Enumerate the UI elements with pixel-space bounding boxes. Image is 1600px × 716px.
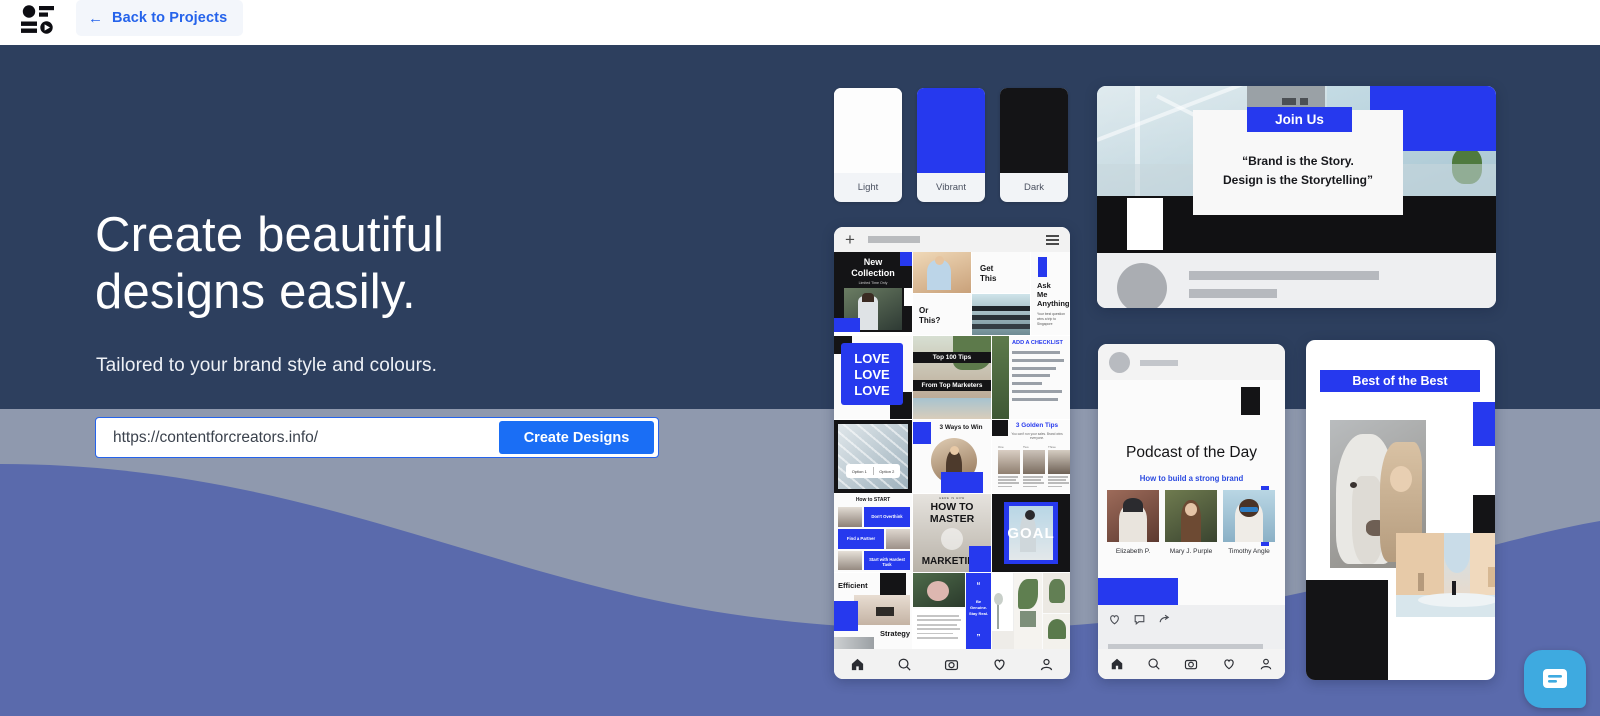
moodboard-grid: New Collection Limited Time Only Get Thi… (834, 252, 1070, 649)
guest-name: Timothy Angle (1223, 548, 1275, 555)
search-icon[interactable] (1147, 657, 1161, 671)
tile-quote: “ Be Genuine. Stay Real. ” (913, 573, 991, 649)
tile-title: HOW TO MASTER (913, 501, 991, 525)
tile-plants (992, 573, 1070, 649)
guest-photo (1223, 490, 1275, 542)
tile-title: Top 100 Tips (913, 354, 991, 361)
moodboard-header: + (834, 227, 1070, 252)
comment-icon[interactable] (1133, 613, 1146, 626)
heart-icon[interactable] (1108, 613, 1121, 626)
podcast-bottom-nav (1098, 649, 1285, 679)
brand-quote-design-card[interactable]: WWW.OFFEO.COM Join Us “Brand is the Stor… (1097, 86, 1496, 308)
theme-swatch-color (834, 88, 902, 173)
best-of-the-best-design-card[interactable]: Best of the Best (1306, 340, 1495, 680)
hamburger-icon[interactable] (1046, 235, 1059, 248)
podcast-guest-list: Elizabeth P. Mary J. Purple Timothy (1107, 490, 1277, 555)
brand-quote-text: “Brand is the Story. Design is the Story… (1193, 152, 1403, 190)
tile-title: How to START (834, 497, 912, 503)
page-subtitle: Tailored to your brand style and colours… (96, 355, 437, 377)
tile-goal: GOAL (992, 494, 1070, 572)
tile-step-label: Start with Hardest Task (864, 557, 910, 567)
tile-title: GOAL (992, 525, 1070, 542)
tile-ask-me-anything: Ask Me Anything Your best question wins … (1031, 252, 1070, 335)
action-icon-row (1108, 613, 1171, 626)
tile-efficient-strategy: Efficient Strategy (834, 573, 912, 649)
tile-3-golden-tips: 3 Golden Tips You can't run your sales. … (992, 420, 1070, 493)
guest-item: Mary J. Purple (1165, 490, 1217, 555)
tile-photo-joy (913, 252, 971, 293)
guest-photo (1107, 490, 1159, 542)
avatar (1117, 263, 1167, 308)
chat-bubble-icon (1542, 668, 1568, 690)
website-url-input[interactable] (96, 429, 499, 447)
placeholder-name-bar (1140, 360, 1178, 366)
back-to-projects-label: Back to Projects (112, 10, 227, 26)
page-root: ← Back to Projects Create beautiful desi… (0, 0, 1600, 716)
tile-how-to-start: How to START Don't Overthink Find a Part… (834, 494, 912, 572)
theme-swatch-color (1000, 88, 1068, 173)
home-icon[interactable] (1110, 657, 1124, 671)
tile-quote-text: Be Genuine. Stay Real. (968, 599, 989, 617)
url-form: Create Designs (95, 417, 659, 458)
tile-option-1: Option 1 (846, 464, 873, 478)
tile-add-checklist: ADD A CHECKLIST (992, 336, 1070, 419)
quote-panel: Join Us “Brand is the Story. Design is t… (1193, 110, 1403, 215)
podcast-title: Podcast of the Day (1098, 444, 1285, 462)
tile-how-to-master-marketing: HERE IS HOW HOW TO MASTER MARKETING (913, 494, 991, 572)
theme-card-dark[interactable]: Dark (1000, 88, 1068, 202)
tile-step-label: Find a Partner (838, 536, 884, 541)
architecture-photo (1396, 533, 1495, 617)
search-icon[interactable] (897, 657, 912, 672)
tile-title: 3 Ways to Win (933, 424, 989, 431)
guest-item: Timothy Angle (1223, 490, 1275, 555)
tile-option-2: Option 2 (874, 464, 901, 478)
theme-card-vibrant[interactable]: Vibrant (917, 88, 985, 202)
tile-get-this: Get This (972, 252, 1030, 293)
moodboard-design-card[interactable]: + New Collection Limited Time Only G (834, 227, 1070, 679)
avatar (1109, 352, 1130, 373)
plus-icon[interactable]: + (845, 231, 855, 248)
guest-name: Mary J. Purple (1165, 548, 1217, 555)
placeholder-line (1189, 271, 1379, 280)
top-bar: ← Back to Projects (0, 0, 1600, 45)
tile-title: Get This (980, 264, 1026, 283)
tile-title: LOVE LOVE LOVE (841, 351, 903, 399)
tile-title: Ask Me Anything (1037, 281, 1070, 308)
theme-label: Dark (1000, 173, 1068, 202)
theme-label: Vibrant (917, 173, 985, 202)
white-accent-bar (1127, 198, 1163, 250)
tile-or-this: Or This? (913, 294, 971, 335)
tile-3-ways-to-win: 3 Ways to Win (913, 420, 991, 493)
guest-item: Elizabeth P. (1107, 490, 1159, 555)
accent-blue-block (1473, 402, 1495, 446)
chat-widget-button[interactable] (1524, 650, 1586, 708)
create-designs-button[interactable]: Create Designs (499, 421, 654, 454)
tile-title: From Top Marketers (913, 382, 991, 389)
tile-title: ADD A CHECKLIST (1012, 340, 1068, 346)
profile-icon[interactable] (1039, 657, 1054, 672)
profile-icon[interactable] (1259, 657, 1273, 671)
offeo-logo[interactable] (18, 4, 58, 38)
camera-icon[interactable] (944, 657, 959, 672)
podcast-subtitle: How to build a strong brand (1098, 474, 1285, 483)
tile-subtitle: Your best question wins a trip to Singap… (1037, 312, 1068, 327)
tile-options: Option 1 Option 2 (834, 420, 912, 493)
black-accent-block (1241, 387, 1260, 415)
profile-footer (1097, 253, 1496, 308)
arrow-left-icon: ← (88, 11, 103, 26)
placeholder-line (1189, 289, 1277, 298)
theme-swatch-color (917, 88, 985, 173)
best-of-the-best-label: Best of the Best (1320, 370, 1480, 392)
page-title: Create beautiful designs easily. (95, 207, 444, 321)
theme-swatch-list: Light Vibrant Dark (834, 88, 1068, 202)
back-to-projects-button[interactable]: ← Back to Projects (76, 0, 243, 36)
home-icon[interactable] (850, 657, 865, 672)
theme-card-light[interactable]: Light (834, 88, 902, 202)
tile-step-label: Don't Overthink (864, 514, 910, 519)
podcast-design-card[interactable]: Podcast of the Day How to build a strong… (1098, 344, 1285, 679)
theme-label: Light (834, 173, 902, 202)
placeholder-pill (868, 236, 920, 243)
podcast-card-body: Podcast of the Day How to build a strong… (1098, 380, 1285, 605)
tile-title: 3 Golden Tips (1006, 422, 1068, 429)
tile-photo-architecture (972, 294, 1030, 335)
heart-icon[interactable] (992, 657, 1007, 672)
guest-name: Elizabeth P. (1107, 548, 1159, 555)
share-icon[interactable] (1158, 613, 1171, 626)
offeo-logo-icon (18, 4, 58, 38)
tile-subtitle: Limited Time Only (834, 281, 912, 285)
camera-icon[interactable] (1184, 657, 1198, 671)
moodboard-bottom-nav (834, 649, 1070, 679)
tile-top-tips: Top 100 Tips From Top Marketers (913, 336, 991, 419)
tile-love: LOVE LOVE LOVE (834, 336, 912, 419)
guest-photo (1165, 490, 1217, 542)
tile-title: New Collection (834, 257, 912, 279)
join-us-badge: Join Us (1247, 107, 1352, 132)
tile-new-collection: New Collection Limited Time Only (834, 252, 912, 332)
tile-title: Or This? (919, 306, 969, 325)
black-accent-block (1306, 580, 1388, 680)
heart-icon[interactable] (1222, 657, 1236, 671)
podcast-card-header (1098, 344, 1285, 380)
